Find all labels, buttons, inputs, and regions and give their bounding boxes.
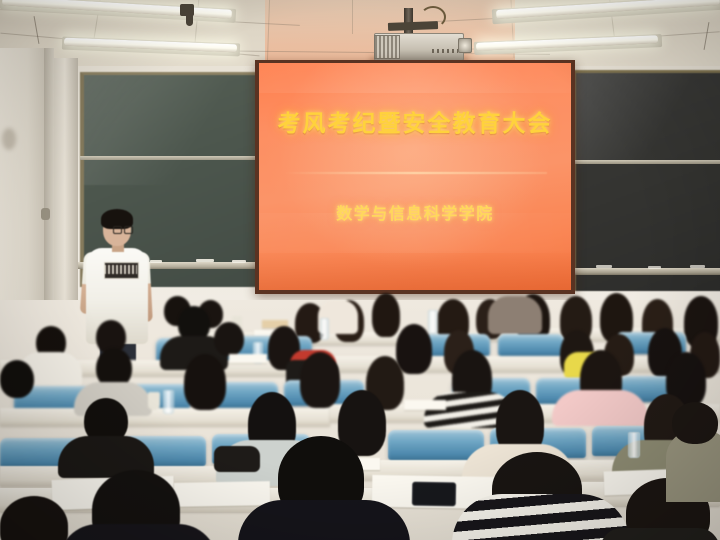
student-body: [238, 500, 410, 540]
student-head: [300, 352, 340, 408]
projector-buttons: [432, 49, 458, 53]
projection-screen[interactable]: 考风考纪暨安全教育大会 数学与信息科学学院: [259, 63, 571, 290]
blackboard-right: [572, 70, 720, 291]
blackboard-gloss: [576, 73, 720, 163]
door-knob-icon[interactable]: [41, 208, 50, 220]
chalk-piece: [690, 265, 705, 268]
ceiling-sensor-icon: [186, 14, 193, 26]
shirt-graphic-text: [104, 265, 137, 274]
smartphone-icon: [412, 482, 456, 507]
projector-lens: [458, 38, 472, 53]
student-head: [184, 354, 226, 410]
water-bottle: [428, 310, 438, 334]
seat-row: [498, 334, 564, 356]
student-body: [600, 528, 720, 540]
wall-mark: [2, 128, 16, 150]
notebook-paper: [229, 354, 267, 363]
projector-vent: [374, 35, 400, 59]
notebook-paper: [174, 481, 270, 507]
blackboard-divider-rail: [572, 160, 720, 164]
water-bottle: [320, 318, 329, 340]
student-body: [488, 296, 542, 334]
slide-divider: [283, 172, 547, 174]
student-head: [396, 324, 432, 374]
student-body: [552, 390, 648, 426]
chalk-piece: [596, 265, 612, 268]
student-body: [452, 494, 630, 540]
chalk-tray: [568, 268, 720, 275]
slide-subtitle: 数学与信息科学学院: [259, 200, 571, 224]
student-head: [672, 402, 718, 444]
screen-band: [259, 63, 571, 93]
water-bottle: [628, 432, 640, 458]
student-head: [214, 322, 244, 356]
chalk-piece: [150, 260, 162, 263]
blackboard-gloss: [84, 75, 272, 185]
chalk-piece: [196, 259, 214, 262]
paper-cup: [148, 392, 160, 410]
lecture-hall-photo: 考风考纪暨安全教育大会 数学与信息科学学院: [0, 0, 720, 540]
student-head: [0, 360, 34, 398]
student-body: [58, 524, 218, 540]
chalk-piece: [648, 266, 661, 269]
slide-title: 考风考纪暨安全教育大会: [259, 104, 571, 138]
blackboard-divider-rail: [80, 156, 268, 160]
water-bottle: [163, 390, 174, 414]
notebook-paper: [404, 400, 446, 410]
screen-shading: [259, 250, 571, 290]
backpack: [214, 446, 260, 472]
glasses-icon: [113, 226, 132, 232]
student-head: [372, 293, 400, 337]
ceiling-tile-seam: [352, 0, 353, 34]
chalk-piece: [232, 260, 246, 263]
